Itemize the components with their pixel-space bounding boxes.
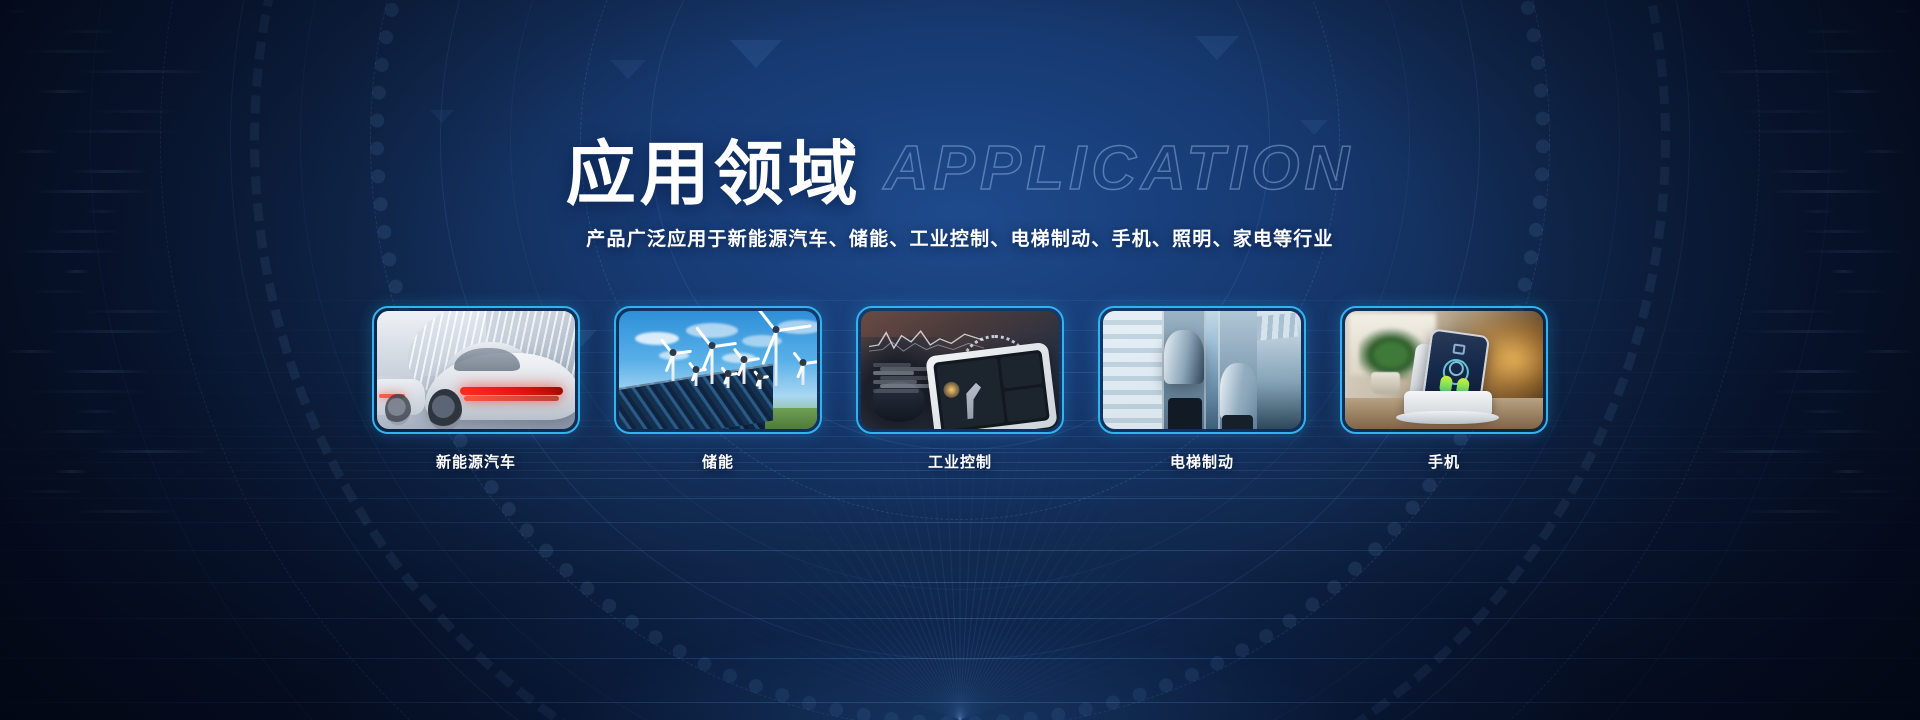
card-thumbnail-frame xyxy=(1098,306,1306,434)
card-thumbnail-frame xyxy=(856,306,1064,434)
ev-sports-car-photo xyxy=(377,311,575,429)
page-title-en: APPLICATION xyxy=(884,134,1355,203)
banner-stage: 应用领域APPLICATION 产品广泛应用于新能源汽车、储能、工业控制、电梯制… xyxy=(0,0,1920,720)
industrial-tablet-robot-arm-photo xyxy=(861,311,1059,429)
elevator-shaft-photo xyxy=(1103,311,1301,429)
application-card-phone[interactable]: 手机 xyxy=(1340,306,1548,472)
page-subtitle: 产品广泛应用于新能源汽车、储能、工业控制、电梯制动、手机、照明、家电等行业 xyxy=(0,224,1920,251)
application-card-energy-storage[interactable]: 储能 xyxy=(614,306,822,472)
solar-panels-wind-turbines-photo xyxy=(619,311,817,429)
application-card-industrial-control[interactable]: 工业控制 xyxy=(856,306,1064,472)
card-label: 手机 xyxy=(1340,451,1548,472)
application-card-list: 新能源汽车 储能 xyxy=(0,306,1920,472)
card-label: 新能源汽车 xyxy=(372,451,580,472)
card-label: 储能 xyxy=(614,451,822,472)
card-thumbnail-frame xyxy=(614,306,822,434)
smartphone-wireless-charger-photo xyxy=(1345,311,1543,429)
application-card-ev[interactable]: 新能源汽车 xyxy=(372,306,580,472)
card-label: 电梯制动 xyxy=(1098,451,1306,472)
card-thumbnail-frame xyxy=(1340,306,1548,434)
card-label: 工业控制 xyxy=(856,451,1064,472)
page-title: 应用领域 xyxy=(566,133,862,215)
title-block: 应用领域APPLICATION xyxy=(0,118,1920,210)
banner-content: 应用领域APPLICATION 产品广泛应用于新能源汽车、储能、工业控制、电梯制… xyxy=(0,0,1920,720)
card-thumbnail-frame xyxy=(372,306,580,434)
application-card-elevator[interactable]: 电梯制动 xyxy=(1098,306,1306,472)
